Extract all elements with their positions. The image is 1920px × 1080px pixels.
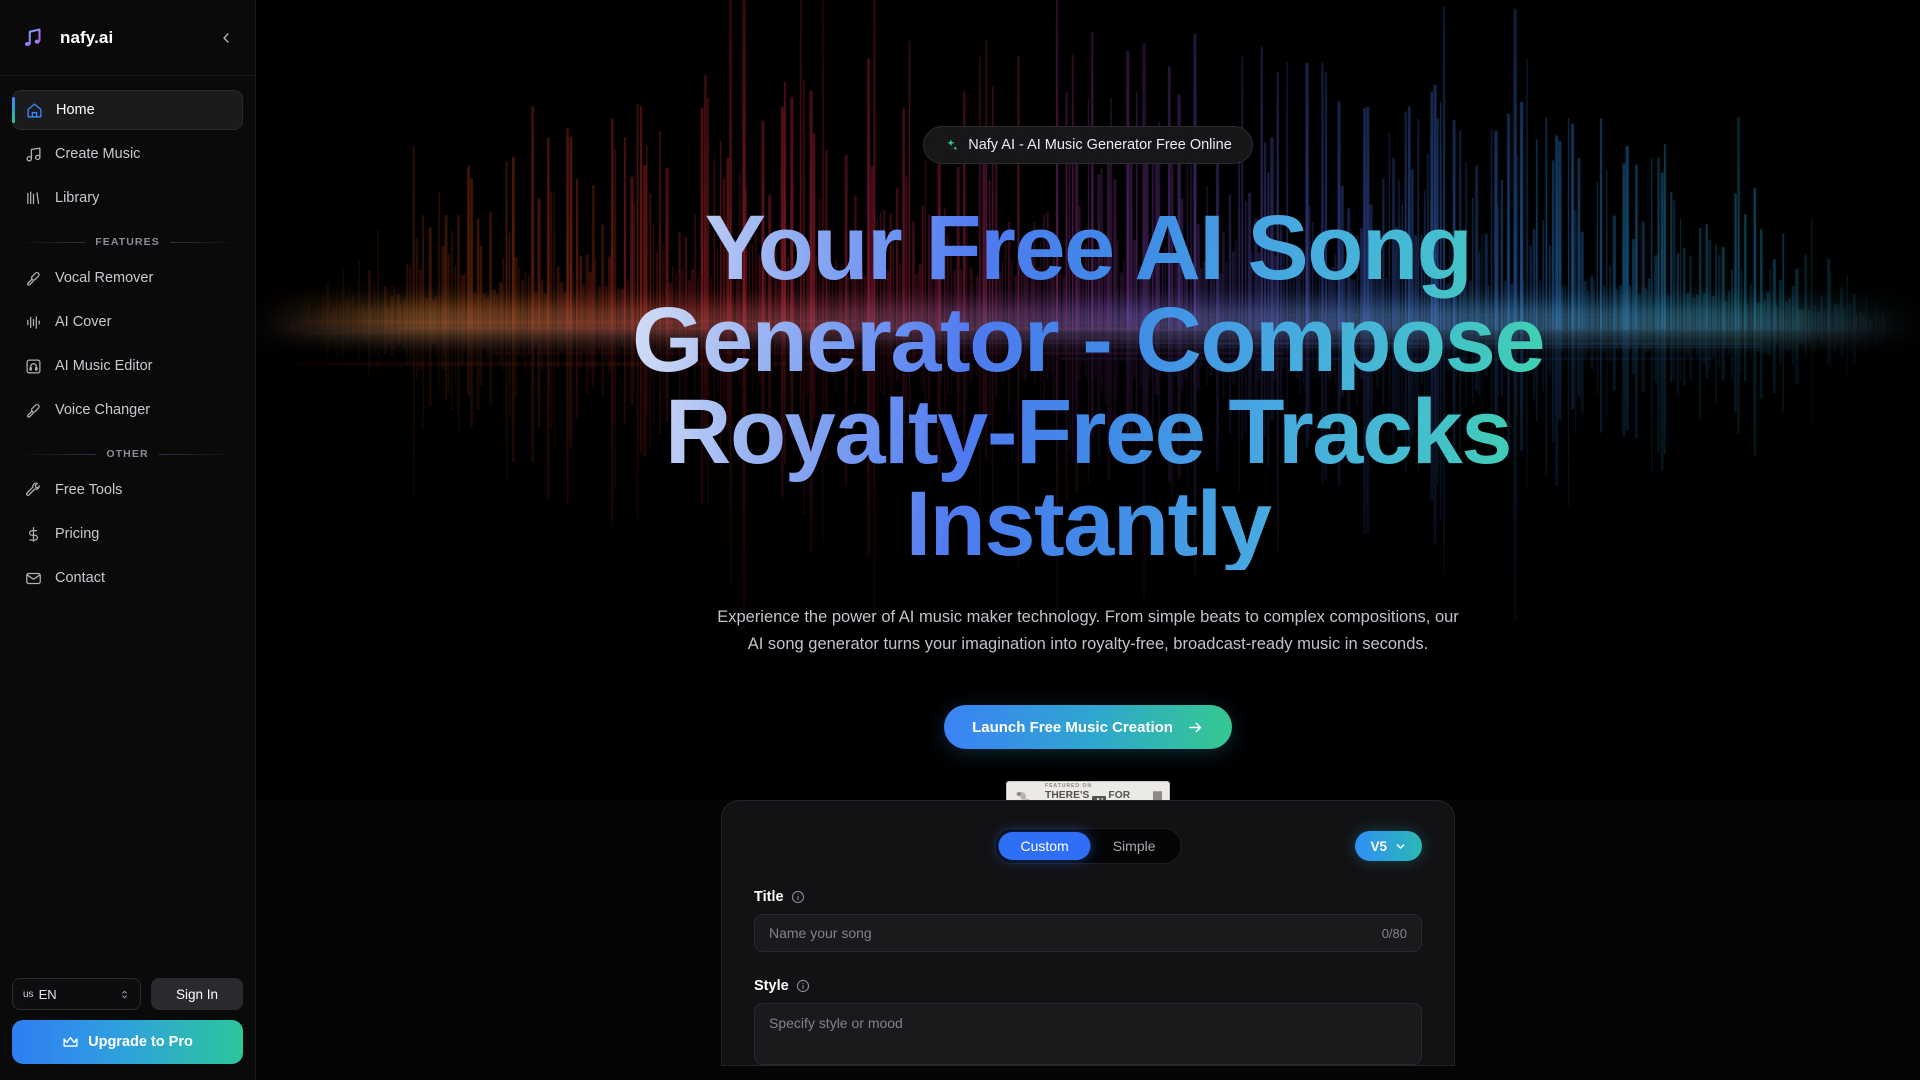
flexed-arm-icon: [1014, 788, 1038, 800]
language-select[interactable]: us EN: [12, 978, 141, 1010]
divider-line-right: [159, 454, 237, 455]
language-label: EN: [39, 987, 57, 1002]
hero-subtitle: Experience the power of AI music maker t…: [708, 604, 1468, 657]
music-note-logo-icon: [20, 25, 46, 51]
library-bars-icon: [24, 189, 42, 207]
sidebar: nafy.ai Home: [0, 0, 256, 1080]
upgrade-to-pro-button[interactable]: Upgrade to Pro: [12, 1020, 243, 1064]
arrow-right-icon: [1187, 719, 1204, 736]
microphone-icon: [24, 269, 42, 287]
chevron-up-down-icon: [119, 989, 130, 1000]
info-icon[interactable]: [791, 890, 805, 904]
hero-badge-text: Nafy AI - AI Music Generator Free Online: [968, 137, 1232, 153]
sidebar-item-label: Contact: [55, 570, 105, 586]
sidebar-item-label: Free Tools: [55, 482, 122, 498]
footer-row: us EN Sign In: [12, 978, 243, 1010]
featured-on-taaft-badge[interactable]: FEATURED ON THERE'S AN AI FOR THAT: [1006, 781, 1170, 800]
microphone-icon: [24, 401, 42, 419]
divider-line-left: [18, 454, 96, 455]
crown-icon: [62, 1034, 79, 1051]
tab-simple-label: Simple: [1113, 838, 1156, 854]
brand-name: nafy.ai: [60, 28, 113, 48]
sparkles-icon: [944, 138, 959, 153]
sidebar-item-ai-cover[interactable]: AI Cover: [12, 302, 243, 342]
sidebar-item-home[interactable]: Home: [12, 90, 243, 130]
taaft-line: THERE'S AN AI FOR THAT: [1045, 790, 1146, 800]
divider-line-right: [170, 242, 237, 243]
other-section-divider: OTHER: [18, 448, 237, 460]
other-section-label: OTHER: [106, 448, 148, 460]
taaft-line-post: FOR THAT: [1108, 790, 1146, 800]
version-select-button[interactable]: V5: [1355, 831, 1422, 861]
page-title: Your Free AI Song Generator - Compose Ro…: [498, 202, 1678, 570]
style-input-placeholder: Specify style or mood: [769, 1015, 903, 1031]
title-field-label-row: Title: [754, 889, 1422, 905]
chevron-down-icon: [1394, 840, 1407, 853]
chevron-left-icon[interactable]: [215, 27, 237, 49]
sidebar-item-create-music[interactable]: Create Music: [12, 134, 243, 174]
tab-simple[interactable]: Simple: [1091, 832, 1178, 860]
tab-custom[interactable]: Custom: [998, 832, 1090, 860]
title-input-placeholder: Name your song: [769, 925, 872, 941]
title-field-group: Title Name your song 0/80: [754, 889, 1422, 952]
hero-badge[interactable]: Nafy AI - AI Music Generator Free Online: [923, 126, 1253, 164]
sidebar-item-label: Home: [56, 102, 95, 118]
sidebar-item-free-tools[interactable]: Free Tools: [12, 470, 243, 510]
sidebar-item-label: AI Music Editor: [55, 358, 153, 374]
divider-line-left: [18, 242, 85, 243]
title-field-label: Title: [754, 889, 784, 905]
audio-waveform-icon: [24, 313, 42, 331]
version-label: V5: [1370, 839, 1387, 854]
sidebar-item-label: Voice Changer: [55, 402, 150, 418]
sidebar-item-pricing[interactable]: Pricing: [12, 514, 243, 554]
title-char-counter: 0/80: [1382, 926, 1407, 941]
hero-inner: Nafy AI - AI Music Generator Free Online…: [256, 0, 1920, 800]
sign-in-button[interactable]: Sign In: [151, 978, 243, 1010]
main-content: Nafy AI - AI Music Generator Free Online…: [256, 0, 1920, 1080]
sidebar-item-label: Create Music: [55, 146, 140, 162]
sidebar-item-label: Pricing: [55, 526, 99, 542]
style-input[interactable]: Specify style or mood: [754, 1003, 1422, 1065]
hero-section: Nafy AI - AI Music Generator Free Online…: [256, 0, 1920, 800]
sidebar-footer: us EN Sign In U: [0, 978, 255, 1080]
music-creation-form-panel: Custom Simple V5 Titl: [721, 800, 1455, 1066]
style-field-label-row: Style: [754, 978, 1422, 994]
wrench-icon: [24, 481, 42, 499]
sidebar-item-label: AI Cover: [55, 314, 111, 330]
music-note-icon: [24, 145, 42, 163]
sidebar-nav: Home Create Music Library: [0, 76, 255, 978]
dollar-sign-icon: [24, 525, 42, 543]
style-field-label: Style: [754, 978, 789, 994]
headphones-square-icon: [24, 357, 42, 375]
home-icon: [25, 101, 43, 119]
sidebar-item-label: Library: [55, 190, 99, 206]
cta-label: Launch Free Music Creation: [972, 719, 1173, 736]
sidebar-item-voice-changer[interactable]: Voice Changer: [12, 390, 243, 430]
mode-toggle: Custom Simple: [994, 828, 1181, 864]
form-toolbar: Custom Simple V5: [754, 829, 1422, 863]
info-icon[interactable]: [796, 979, 810, 993]
title-input[interactable]: Name your song 0/80: [754, 914, 1422, 952]
language-flag: us: [23, 989, 34, 1000]
envelope-icon: [24, 569, 42, 587]
sign-in-label: Sign In: [176, 987, 218, 1002]
sidebar-item-vocal-remover[interactable]: Vocal Remover: [12, 258, 243, 298]
app-root: nafy.ai Home: [0, 0, 1920, 1080]
features-section-divider: FEATURES: [18, 236, 237, 248]
sidebar-item-label: Vocal Remover: [55, 270, 153, 286]
taaft-ai-chip: AI: [1092, 796, 1106, 800]
sidebar-item-library[interactable]: Library: [12, 178, 243, 218]
bookmark-icon: [1153, 791, 1162, 800]
features-section-label: FEATURES: [95, 236, 160, 248]
upgrade-label: Upgrade to Pro: [88, 1034, 193, 1050]
taaft-text: FEATURED ON THERE'S AN AI FOR THAT: [1045, 784, 1146, 800]
taaft-line-pre: THERE'S AN: [1045, 790, 1090, 800]
launch-free-music-creation-button[interactable]: Launch Free Music Creation: [944, 705, 1232, 749]
sidebar-item-ai-music-editor[interactable]: AI Music Editor: [12, 346, 243, 386]
sidebar-item-contact[interactable]: Contact: [12, 558, 243, 598]
style-field-group: Style Specify style or mood: [754, 978, 1422, 1065]
tab-custom-label: Custom: [1020, 838, 1068, 854]
sidebar-header: nafy.ai: [0, 0, 255, 76]
